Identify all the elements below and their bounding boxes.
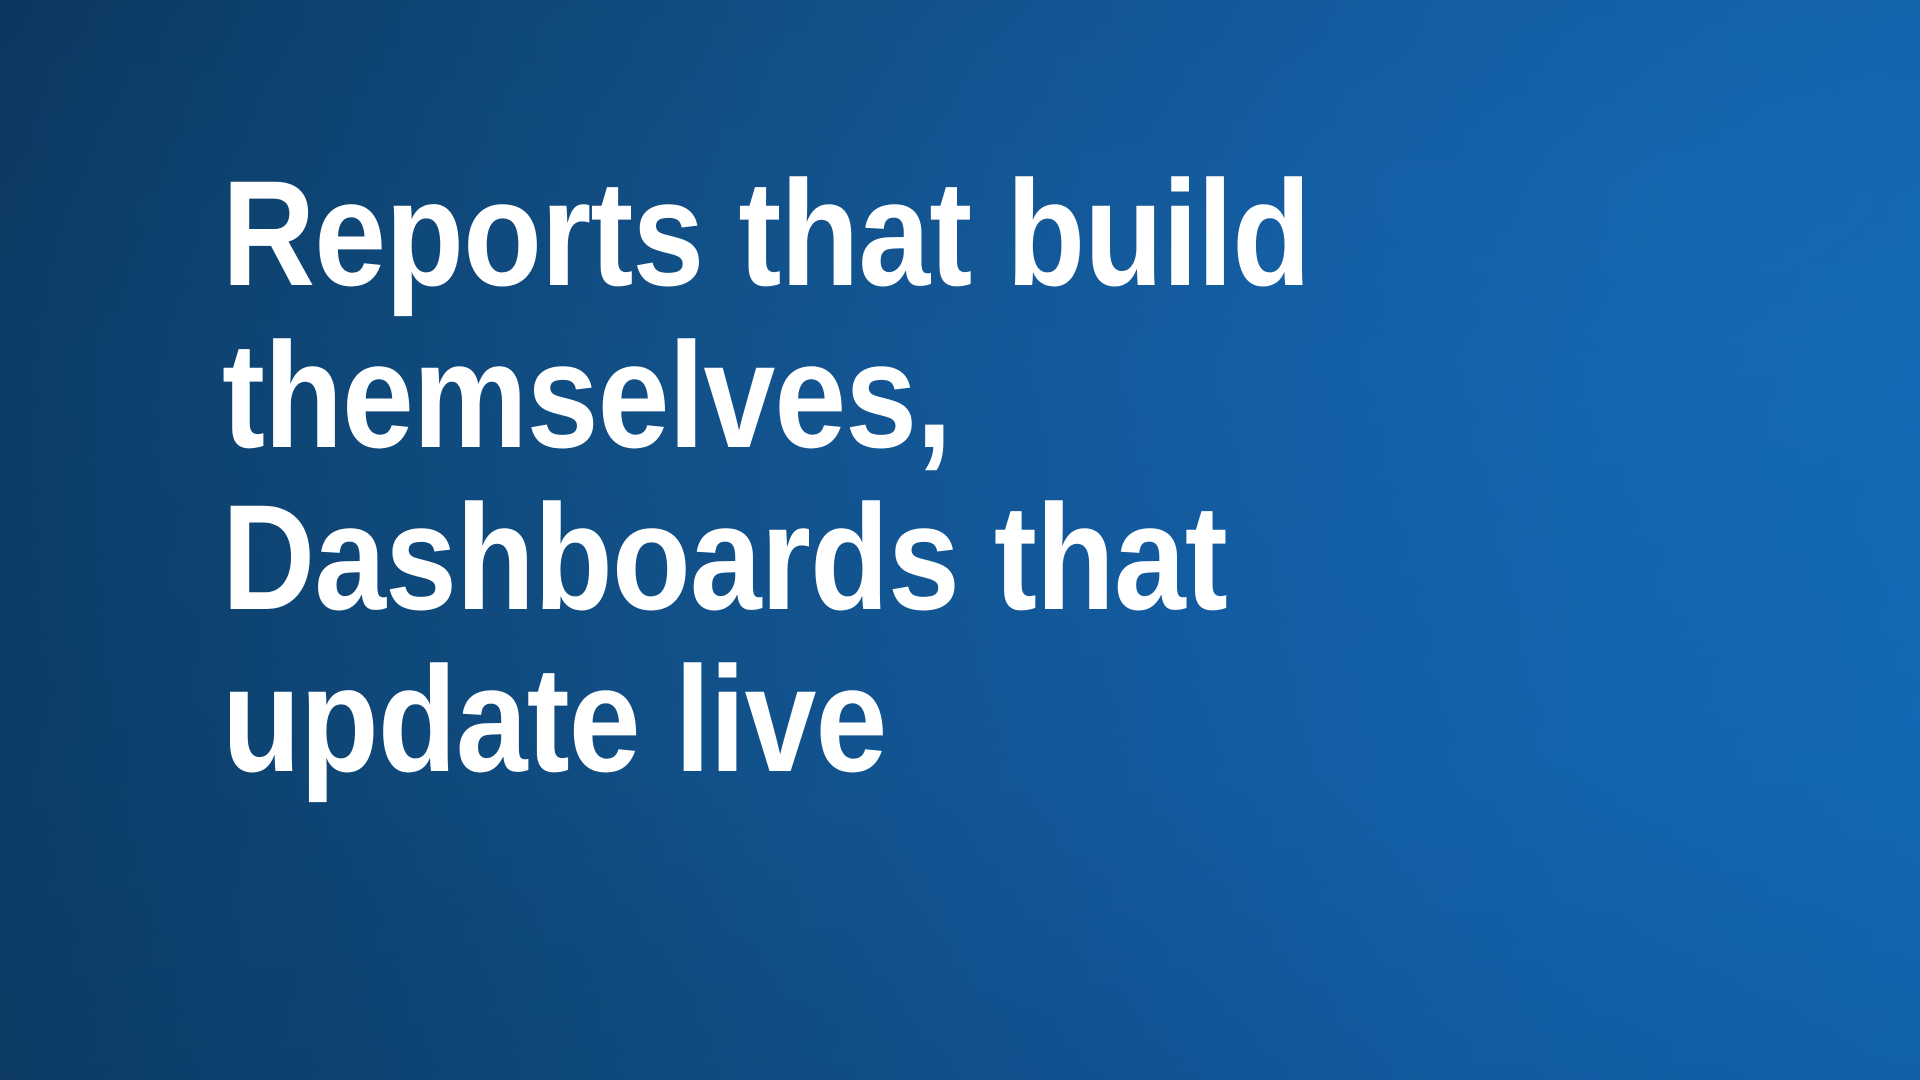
headline-line-3: Dashboards that <box>222 476 1357 638</box>
headline-line-1: Reports that build <box>222 152 1357 314</box>
headline-line-2: themselves, <box>222 314 1357 476</box>
slide-canvas: Reports that build themselves, Dashboard… <box>0 0 1920 1080</box>
headline-text-block: Reports that build themselves, Dashboard… <box>222 152 1542 800</box>
headline-line-4: update live <box>222 638 1357 800</box>
